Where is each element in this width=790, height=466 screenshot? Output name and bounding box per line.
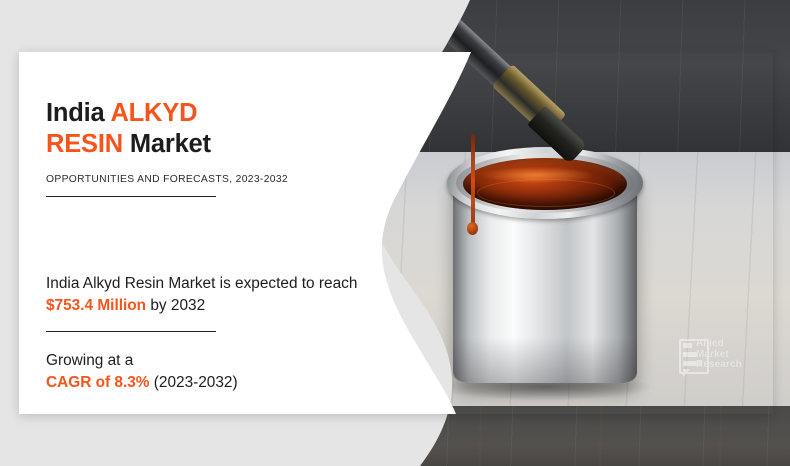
cagr-value: CAGR of 8.3% (46, 374, 149, 391)
bar-chart-icon (683, 343, 692, 348)
title-accent-2: RESIN (46, 130, 123, 158)
content-block: India ALKYDRESIN Market OPPORTUNITIES AN… (46, 98, 376, 393)
allied-market-research-watermark: AlliedMarketResearch (679, 337, 745, 383)
cagr-lead: Growing at a (46, 352, 133, 369)
dark-wood-bottom-band (0, 406, 790, 466)
speech-bubble-tail-icon (683, 369, 690, 377)
subtitle: OPPORTUNITIES AND FORECASTS, 2023-2032 (46, 174, 376, 185)
banner-root: India ALKYDRESIN Market OPPORTUNITIES AN… (0, 0, 790, 466)
watermark-line-2: Market (696, 349, 729, 360)
watermark-text: AlliedMarketResearch (696, 339, 742, 371)
title-accent-1: ALKYD (110, 99, 197, 127)
stat-value: $753.4 Million (46, 297, 146, 314)
divider-under-stat (46, 331, 216, 332)
page-title: India ALKYDRESIN Market (46, 98, 376, 160)
stat-suffix: by 2032 (146, 297, 205, 314)
watermark-line-1: Allied (696, 338, 724, 349)
cagr-statement: Growing at aCAGR of 8.3% (2023-2032) (46, 350, 376, 393)
cagr-period: (2023-2032) (149, 374, 237, 391)
divider-under-subtitle (46, 196, 216, 197)
market-value-statement: India Alkyd Resin Market is expected to … (46, 273, 376, 316)
title-plain-2: Market (123, 130, 211, 158)
watermark-line-3: Research (696, 359, 742, 370)
title-plain-1: India (46, 99, 110, 127)
stat-prefix: India Alkyd Resin Market is expected to … (46, 275, 357, 292)
bar-chart-icon (683, 352, 697, 357)
